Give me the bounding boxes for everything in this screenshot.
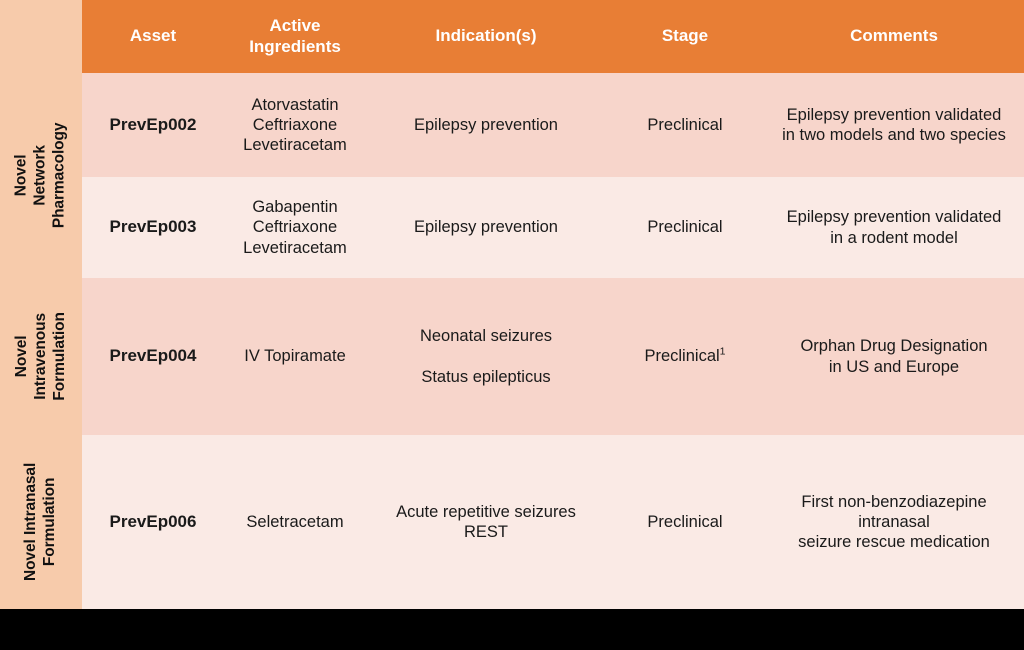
ingredient-line: Levetiracetam — [243, 238, 347, 258]
category-line: Novel — [13, 123, 32, 229]
category-line: Network — [32, 123, 51, 229]
comment-line: in two models and two species — [782, 125, 1006, 145]
cell-active-ingredients: IV Topiramate — [224, 278, 366, 435]
cell-asset: PrevEp004 — [82, 278, 224, 435]
cell-indications: Acute repetitive seizures REST — [366, 435, 606, 609]
stage-value: Preclinical — [644, 347, 719, 365]
comment-line: in a rodent model — [830, 228, 958, 248]
cell-stage: Preclinical — [606, 435, 764, 609]
category-label-intranasal-formulation: Novel Intranasal Formulation — [22, 463, 60, 581]
indication-line: Status epilepticus — [421, 367, 550, 387]
indication-line: Epilepsy prevention — [414, 115, 558, 135]
column-header-asset: Asset — [82, 0, 224, 73]
category-line: Novel — [13, 312, 32, 400]
cell-indications: Neonatal seizures Status epilepticus — [366, 278, 606, 435]
stage-value: Preclinical — [647, 217, 722, 237]
column-header-line: Ingredients — [249, 37, 341, 57]
table-row: PrevEp003 Gabapentin Ceftriaxone Levetir… — [82, 177, 1024, 278]
column-header-indications: Indication(s) — [366, 0, 606, 73]
cell-active-ingredients: Atorvastatin Ceftriaxone Levetiracetam — [224, 73, 366, 177]
column-header-stage: Stage — [606, 0, 764, 73]
cell-asset: PrevEp006 — [82, 435, 224, 609]
ingredient-line: Ceftriaxone — [253, 217, 337, 237]
category-rail: Novel Network Pharmacology Novel Intrave… — [0, 0, 82, 609]
ingredient-line: Levetiracetam — [243, 135, 347, 155]
table-header-row: Asset Active Ingredients Indication(s) S… — [82, 0, 1024, 73]
comment-line: in US and Europe — [829, 357, 959, 377]
table-row: PrevEp004 IV Topiramate Neonatal seizure… — [82, 278, 1024, 435]
column-header-indications-label: Indication(s) — [435, 26, 536, 46]
category-label-intravenous-formulation: Novel Intravenous Formulation — [13, 312, 70, 400]
comment-line: First non-benzodiazepine — [801, 492, 986, 512]
cell-stage: Preclinical — [606, 73, 764, 177]
ingredient-line: Gabapentin — [252, 197, 337, 217]
comment-line: seizure rescue medication — [798, 532, 990, 552]
stage-value-wrapper: Preclinical1 — [644, 346, 725, 366]
cell-asset: PrevEp003 — [82, 177, 224, 278]
indication-line: Acute repetitive seizures — [396, 502, 576, 522]
asset-name: PrevEp002 — [110, 115, 197, 136]
cell-indications: Epilepsy prevention — [366, 73, 606, 177]
asset-name: PrevEp006 — [110, 512, 197, 533]
category-line: Formulation — [41, 463, 60, 581]
cell-indications: Epilepsy prevention — [366, 177, 606, 278]
column-header-comments-label: Comments — [850, 26, 938, 46]
column-header-asset-label: Asset — [130, 26, 176, 46]
cell-active-ingredients: Seletracetam — [224, 435, 366, 609]
comment-line: Epilepsy prevention validated — [787, 105, 1002, 125]
stage-value: Preclinical — [647, 115, 722, 135]
category-label-network-pharmacology: Novel Network Pharmacology — [13, 123, 70, 229]
category-line: Pharmacology — [50, 123, 69, 229]
cell-asset: PrevEp002 — [82, 73, 224, 177]
category-line: Formulation — [50, 312, 69, 400]
column-header-comments: Comments — [764, 0, 1024, 73]
column-header-active-ingredients: Active Ingredients — [224, 0, 366, 73]
column-header-line: Active — [249, 16, 341, 36]
indication-line: Neonatal seizures — [420, 326, 552, 346]
cell-active-ingredients: Gabapentin Ceftriaxone Levetiracetam — [224, 177, 366, 278]
table-row: PrevEp002 Atorvastatin Ceftriaxone Levet… — [82, 73, 1024, 177]
category-line: Intravenous — [32, 312, 51, 400]
stage-value: Preclinical — [647, 512, 722, 532]
column-header-stage-label: Stage — [662, 26, 708, 46]
cell-comments: Orphan Drug Designation in US and Europe — [764, 278, 1024, 435]
cell-comments: Epilepsy prevention validated in two mod… — [764, 73, 1024, 177]
ingredient-line: IV Topiramate — [244, 346, 346, 366]
ingredient-line: Ceftriaxone — [253, 115, 337, 135]
cell-stage: Preclinical1 — [606, 278, 764, 435]
pipeline-table: Novel Network Pharmacology Novel Intrave… — [0, 0, 1024, 609]
cell-stage: Preclinical — [606, 177, 764, 278]
ingredient-line: Seletracetam — [246, 512, 343, 532]
cell-comments: First non-benzodiazepine intranasal seiz… — [764, 435, 1024, 609]
stage-footnote-marker: 1 — [720, 346, 726, 358]
comment-line: intranasal — [858, 512, 930, 532]
category-cell-network-pharmacology: Novel Network Pharmacology — [0, 73, 82, 278]
indication-line: Epilepsy prevention — [414, 217, 558, 237]
table-row: PrevEp006 Seletracetam Acute repetitive … — [82, 435, 1024, 609]
category-cell-intravenous-formulation: Novel Intravenous Formulation — [0, 278, 82, 435]
ingredient-line: Atorvastatin — [251, 95, 338, 115]
indication-line: REST — [464, 522, 508, 542]
category-line: Novel Intranasal — [22, 463, 41, 581]
table-body: Asset Active Ingredients Indication(s) S… — [82, 0, 1024, 609]
cell-comments: Epilepsy prevention validated in a roden… — [764, 177, 1024, 278]
category-cell-intranasal-formulation: Novel Intranasal Formulation — [0, 435, 82, 609]
comment-line: Orphan Drug Designation — [800, 336, 987, 356]
comment-line: Epilepsy prevention validated — [787, 207, 1002, 227]
asset-name: PrevEp004 — [110, 346, 197, 367]
asset-name: PrevEp003 — [110, 217, 197, 238]
